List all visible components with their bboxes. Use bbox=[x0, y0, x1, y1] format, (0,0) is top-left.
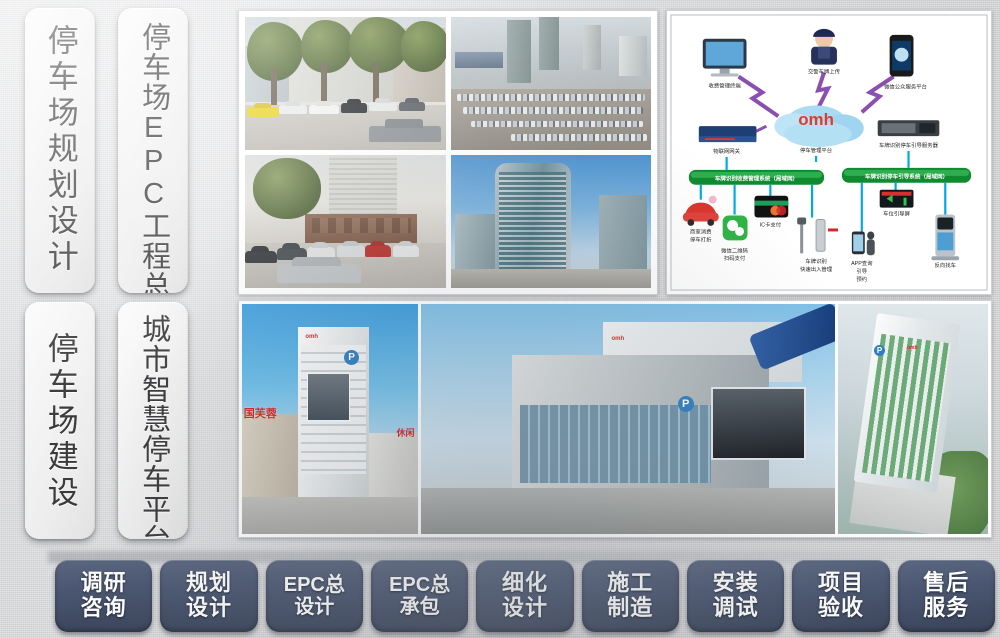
plate-guide-server-icon bbox=[878, 120, 940, 136]
space-guidance-screen-icon bbox=[880, 190, 914, 208]
omh-logo: omh bbox=[611, 336, 624, 342]
svg-text:预约: 预约 bbox=[856, 275, 867, 283]
process-step-line1: 项目 bbox=[818, 571, 864, 596]
plate-guidance-system-bar: 车牌识别停车引导系统（局域网） bbox=[842, 168, 971, 183]
process-step-line1: 细化 bbox=[502, 571, 548, 596]
node-label: 收费管理终端 bbox=[709, 81, 742, 89]
node-label: 微信公众服务平台 bbox=[884, 82, 927, 90]
svg-text:APP查询: APP查询 bbox=[851, 259, 873, 267]
service-card-label: 城市智慧停车平台建设 bbox=[137, 302, 168, 539]
item-label: 反向找车 bbox=[935, 261, 957, 269]
process-steps-bar: 调研 咨询 规划 设计 EPC总 设计 EPC总 承包 细化 设计 施工 制造 … bbox=[55, 560, 995, 632]
wechat-public-service-icon bbox=[890, 35, 914, 77]
process-step-line1: 施工 bbox=[607, 571, 653, 596]
page-background: 停车场规划设计 停车场EPC工程总承包 停车场建设 城市智慧停车平台建设 bbox=[0, 0, 1000, 638]
process-step-line2: 承包 bbox=[400, 596, 440, 618]
project-photo-gallery bbox=[238, 10, 658, 295]
service-card-parking-construction[interactable]: 停车场建设 bbox=[25, 302, 95, 539]
omh-logo: omh bbox=[305, 334, 318, 340]
smart-parking-topology-diagram: omh bbox=[666, 10, 992, 295]
process-step-project-acceptance[interactable]: 项目 验收 bbox=[792, 560, 889, 632]
photo-aerial-lot bbox=[451, 17, 652, 150]
service-card-label: 停车场EPC工程总承包 bbox=[137, 8, 168, 293]
photo-lot-brick bbox=[245, 155, 446, 288]
process-step-line1: EPC总 bbox=[284, 574, 345, 596]
cloud-label: 停车管理平台 bbox=[800, 146, 832, 154]
render-aerial-tower: P omh bbox=[838, 304, 988, 534]
svg-text:扫码支付: 扫码支付 bbox=[724, 254, 746, 262]
plate-charge-system-bar: 车牌识别收费管理系统（局域网） bbox=[689, 170, 824, 185]
parking-p-mark: P bbox=[344, 350, 359, 365]
svg-text:引导: 引导 bbox=[856, 267, 867, 275]
process-step-detailed-design[interactable]: 细化 设计 bbox=[476, 560, 573, 632]
node-label: 交警车牌上传 bbox=[808, 68, 841, 76]
process-step-line1: 安装 bbox=[713, 571, 759, 596]
process-step-line2: 服务 bbox=[923, 596, 969, 621]
omh-logo: omh bbox=[907, 345, 918, 351]
process-step-line1: 售后 bbox=[923, 571, 969, 596]
service-card-parking-planning-design[interactable]: 停车场规划设计 bbox=[25, 8, 95, 293]
svg-text:omh: omh bbox=[798, 110, 834, 129]
render-tower-billboard: P omh 国芙蓉 休闲 bbox=[242, 304, 418, 534]
process-step-line1: 规划 bbox=[186, 571, 232, 596]
service-card-label: 停车场规划设计 bbox=[43, 8, 76, 276]
node-label: 车牌识别停车引导服务器 bbox=[879, 141, 939, 149]
process-step-line2: 咨询 bbox=[81, 596, 127, 621]
node-label: 物联网网关 bbox=[713, 147, 740, 155]
parking-p-mark: P bbox=[678, 396, 694, 412]
svg-text:微信二维码: 微信二维码 bbox=[721, 246, 748, 254]
process-step-line1: EPC总 bbox=[389, 574, 450, 596]
render-garage-front: P omh bbox=[421, 304, 835, 534]
service-card-parking-epc-contract[interactable]: 停车场EPC工程总承包 bbox=[118, 8, 188, 293]
process-step-line2: 设计 bbox=[294, 596, 334, 618]
service-card-label: 停车场建设 bbox=[43, 302, 76, 512]
process-step-line2: 制造 bbox=[607, 596, 653, 621]
svg-text:商家消费: 商家消费 bbox=[690, 227, 712, 235]
ic-card-pay-icon bbox=[754, 196, 788, 218]
process-step-construction-mfg[interactable]: 施工 制造 bbox=[582, 560, 679, 632]
signage-text-left: 国芙蓉 bbox=[244, 405, 277, 421]
photo-office-tower bbox=[451, 155, 652, 288]
process-step-planning-design[interactable]: 规划 设计 bbox=[160, 560, 257, 632]
process-step-install-commission[interactable]: 安装 调试 bbox=[687, 560, 784, 632]
reverse-car-finding-icon bbox=[931, 215, 959, 261]
process-step-after-sales-service[interactable]: 售后 服务 bbox=[898, 560, 995, 632]
iot-gateway-icon bbox=[699, 126, 757, 142]
process-step-line2: 验收 bbox=[818, 596, 864, 621]
garage-renderings: P omh 国芙蓉 休闲 P omh P omh bbox=[238, 300, 992, 538]
service-card-smart-city-platform[interactable]: 城市智慧停车平台建设 bbox=[118, 302, 188, 539]
process-step-epc-design[interactable]: EPC总 设计 bbox=[266, 560, 363, 632]
process-step-epc-contracting[interactable]: EPC总 承包 bbox=[371, 560, 468, 632]
process-step-line2: 设计 bbox=[186, 596, 232, 621]
process-step-line1: 调研 bbox=[81, 571, 127, 596]
photo-street-parking bbox=[245, 17, 446, 150]
signage-text-right: 休闲 bbox=[396, 426, 414, 439]
section-bar-label: 车牌识别收费管理系统（局域网） bbox=[715, 174, 798, 182]
process-step-line2: 设计 bbox=[502, 596, 548, 621]
process-step-line2: 调试 bbox=[713, 596, 759, 621]
svg-text:快速出入管理: 快速出入管理 bbox=[800, 265, 833, 273]
item-label: IC卡支付 bbox=[760, 220, 782, 228]
wechat-qr-pay-icon bbox=[723, 216, 748, 241]
process-step-survey-consulting[interactable]: 调研 咨询 bbox=[55, 560, 152, 632]
app-query-booking-icon bbox=[852, 231, 875, 255]
svg-text:车牌识别: 车牌识别 bbox=[805, 257, 826, 265]
section-bar-label: 车牌识别停车引导系统（局域网） bbox=[865, 172, 948, 180]
item-label: 车位引导屏 bbox=[883, 210, 910, 218]
svg-text:停车打折: 停车打折 bbox=[690, 235, 712, 243]
